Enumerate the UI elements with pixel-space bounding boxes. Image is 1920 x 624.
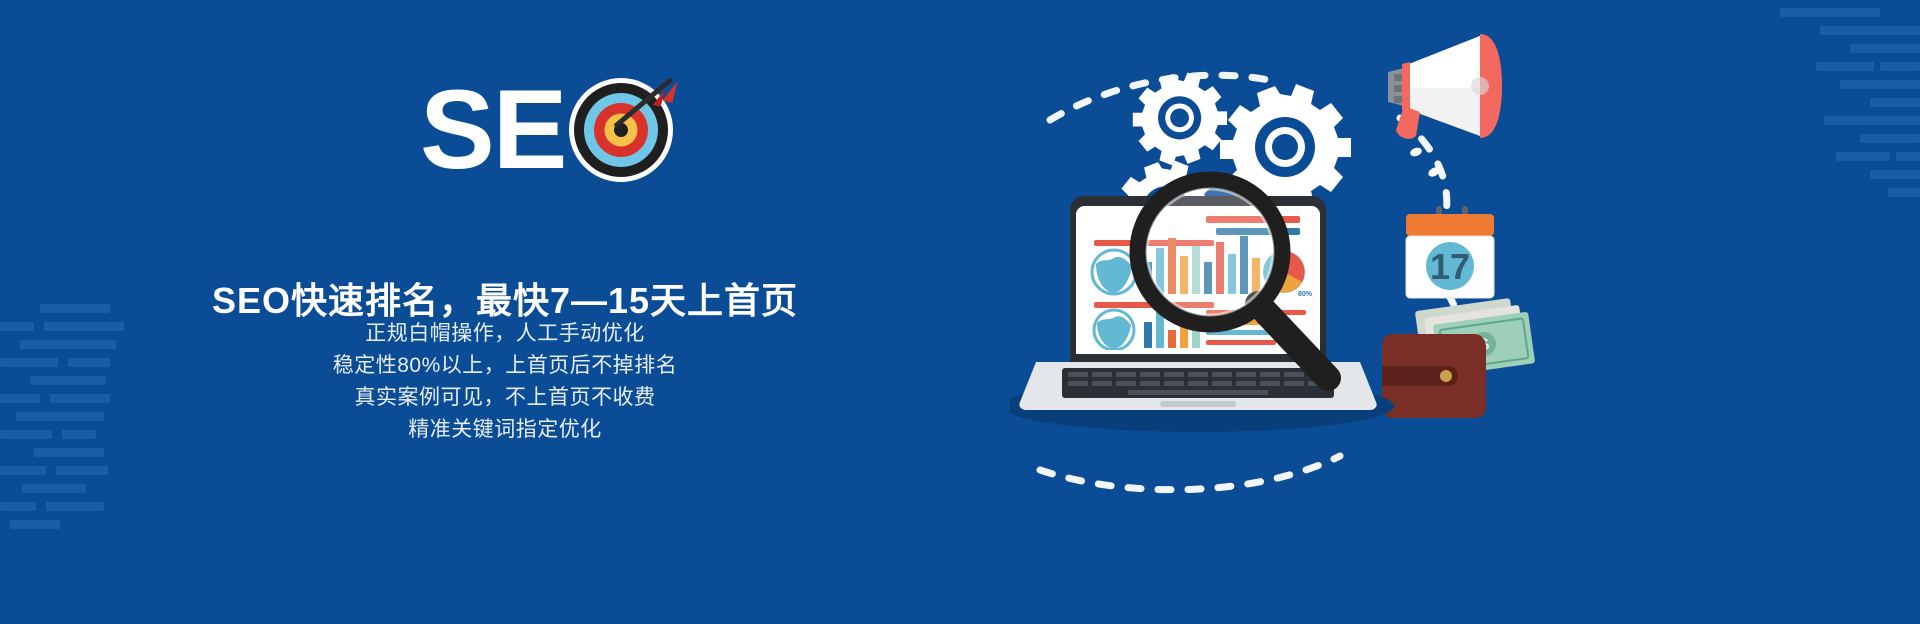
body-line-2: 稳定性80%以上，上首页后不掉排名 <box>0 350 1010 382</box>
megaphone-icon <box>1388 34 1502 178</box>
body-copy: 正规白帽操作，人工手动优化 稳定性80%以上，上首页后不掉排名 真实案例可见，不… <box>0 318 1010 446</box>
calendar-day-number: 17 <box>1430 246 1470 287</box>
body-line-3: 真实案例可见，不上首页不收费 <box>0 382 1010 414</box>
dartboard-target-icon <box>569 78 673 182</box>
dashboard-percent-label: 80% <box>1298 291 1313 298</box>
wallet-money-icon: $ <box>1382 296 1535 418</box>
seo-concept-illustration: $ <box>1010 0 1920 624</box>
seo-wordmark: SE <box>420 78 673 182</box>
headline: SEO快速排名，最快7—15天上首页 <box>0 272 1010 324</box>
seo-promo-banner: SE SEO快速排名，最快7—15天上首页 正规白帽操作，人工手动优化 稳定性8… <box>0 0 1920 624</box>
body-line-1: 正规白帽操作，人工手动优化 <box>0 318 1010 350</box>
calendar-icon: 17 <box>1406 206 1494 298</box>
wordmark-letters: SE <box>420 80 565 180</box>
text-column: SE SEO快速排名，最快7—15天上首页 正规白帽操作，人工手动优化 稳定性8… <box>0 0 1010 624</box>
body-line-4: 精准关键词指定优化 <box>0 414 1010 446</box>
